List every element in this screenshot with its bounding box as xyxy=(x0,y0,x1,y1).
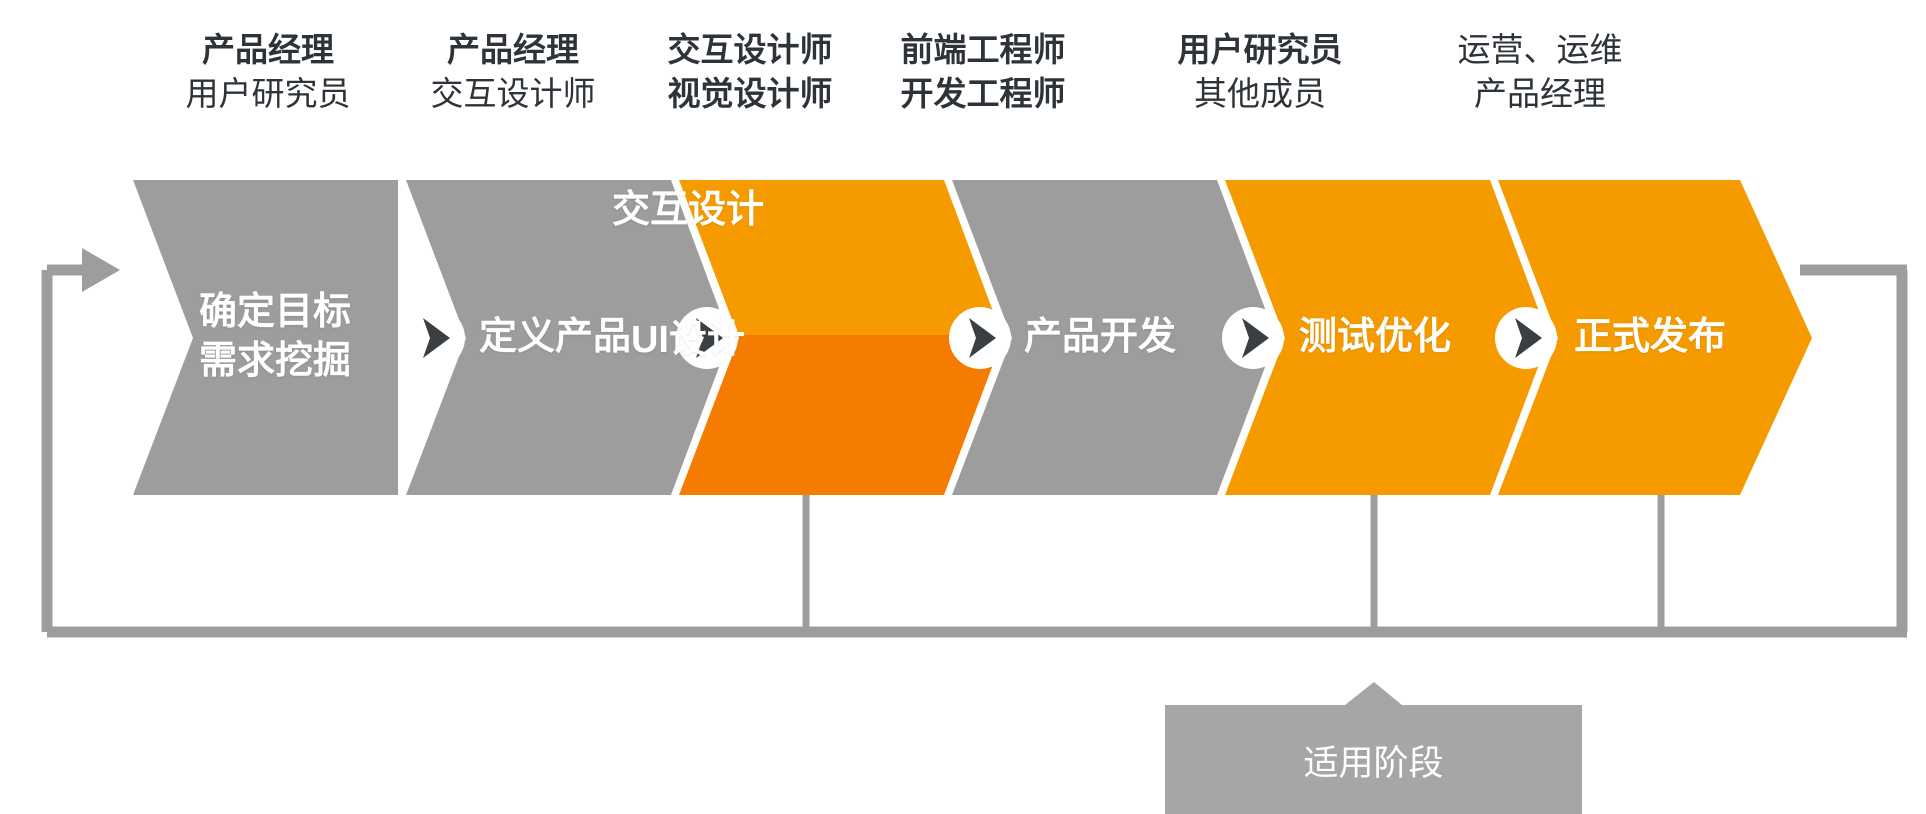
connector-1-2 xyxy=(403,307,465,369)
chevron-stage-1[interactable] xyxy=(133,180,398,495)
flow-diagram: 产品经理 用户研究员 产品经理 交互设计师 交互设计师 视觉设计师 前端工程师 … xyxy=(0,0,1926,814)
connector-3-4 xyxy=(949,307,1011,369)
applicable-stage-label: 适用阶段 xyxy=(1165,735,1582,786)
connector-4-5 xyxy=(1222,307,1284,369)
role-column-6: 运营、运维 产品经理 xyxy=(1375,28,1705,116)
role-header-row: 产品经理 用户研究员 产品经理 交互设计师 交互设计师 视觉设计师 前端工程师 … xyxy=(0,0,1926,150)
connector-2-3 xyxy=(676,307,738,369)
connector-5-6 xyxy=(1495,307,1557,369)
role-line-primary: 运营、运维 xyxy=(1375,28,1705,72)
loop-arrowhead-icon xyxy=(82,248,120,292)
role-line-secondary: 产品经理 xyxy=(1375,72,1705,116)
